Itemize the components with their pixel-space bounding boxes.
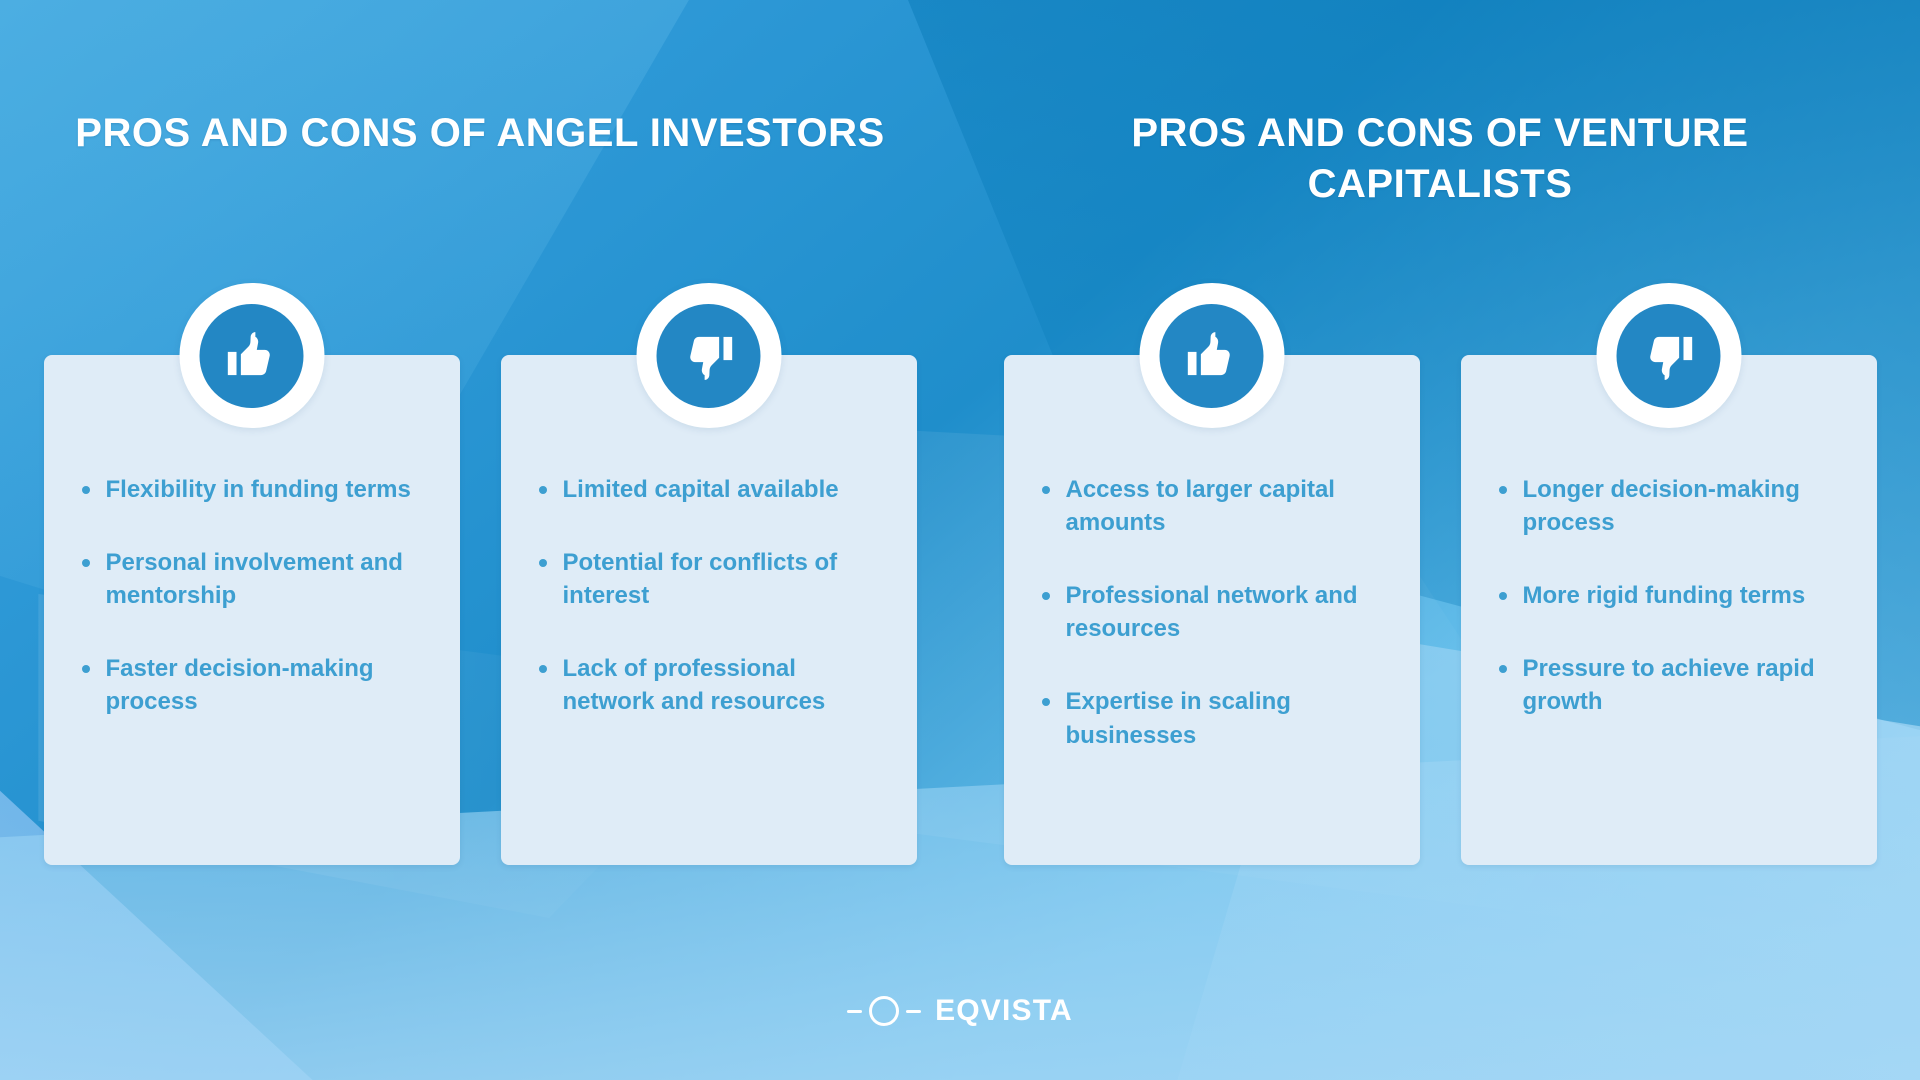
content-layer: PROS AND CONS OF ANGEL INVESTORS Flexibi… bbox=[0, 0, 1920, 1080]
icon-badge-pros bbox=[1139, 283, 1284, 428]
card-angel-pros: Flexibility in funding terms Personal in… bbox=[44, 355, 460, 865]
list-item: Longer decision-making process bbox=[1495, 473, 1843, 539]
list-item: Expertise in scaling businesses bbox=[1038, 685, 1386, 751]
logo-dash-right bbox=[906, 1010, 921, 1013]
thumbs-up-icon bbox=[1160, 304, 1264, 408]
section-angel-investors: PROS AND CONS OF ANGEL INVESTORS Flexibi… bbox=[0, 0, 960, 1080]
list-item: Faster decision-making process bbox=[78, 652, 426, 718]
section-title-angel-investors: PROS AND CONS OF ANGEL INVESTORS bbox=[0, 108, 960, 159]
brand-name: EQVISTA bbox=[935, 994, 1073, 1028]
card-angel-cons: Limited capital available Potential for … bbox=[501, 355, 917, 865]
card-vc-cons: Longer decision-making process More rigi… bbox=[1461, 355, 1877, 865]
list-item: Lack of professional network and resourc… bbox=[535, 652, 883, 718]
circle-with-dashes-icon bbox=[847, 996, 921, 1026]
list-item: Potential for conflicts of interest bbox=[535, 546, 883, 612]
card-group-venture-capitalists: Access to larger capital amounts Profess… bbox=[960, 355, 1920, 865]
section-title-venture-capitalists: PROS AND CONS OF VENTURE CAPITALISTS bbox=[960, 108, 1920, 210]
logo-dash-left bbox=[847, 1010, 862, 1013]
section-venture-capitalists: PROS AND CONS OF VENTURE CAPITALISTS Acc… bbox=[960, 0, 1920, 1080]
icon-badge-cons bbox=[1596, 283, 1741, 428]
card-group-angel-investors: Flexibility in funding terms Personal in… bbox=[0, 355, 960, 865]
list-item: Access to larger capital amounts bbox=[1038, 473, 1386, 539]
list-item: Professional network and resources bbox=[1038, 579, 1386, 645]
thumbs-up-icon bbox=[200, 304, 304, 408]
logo-ring bbox=[869, 996, 899, 1026]
list-item: Pressure to achieve rapid growth bbox=[1495, 652, 1843, 718]
footer-branding: EQVISTA bbox=[0, 994, 1920, 1028]
list-item: Personal involvement and mentorship bbox=[78, 546, 426, 612]
icon-badge-pros bbox=[179, 283, 324, 428]
list-item: More rigid funding terms bbox=[1495, 579, 1843, 612]
icon-badge-cons bbox=[636, 283, 781, 428]
card-vc-pros: Access to larger capital amounts Profess… bbox=[1004, 355, 1420, 865]
thumbs-down-icon bbox=[657, 304, 761, 408]
thumbs-down-icon bbox=[1617, 304, 1721, 408]
list-item: Flexibility in funding terms bbox=[78, 473, 426, 506]
list-item: Limited capital available bbox=[535, 473, 883, 506]
infographic-canvas: PROS AND CONS OF ANGEL INVESTORS Flexibi… bbox=[0, 0, 1920, 1080]
